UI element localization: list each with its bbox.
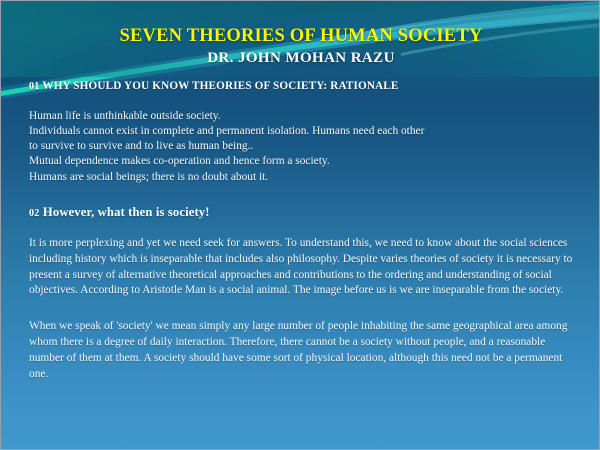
section-01-line-2: Individuals cannot exist in complete and… [29,124,575,139]
section-02-heading-text: However, what then is society! [43,205,210,219]
presentation-slide: SEVEN THEORIES OF HUMAN SOCIETY DR. JOHN… [0,0,600,450]
section-01-heading: 01 WHY SHOULD YOU KNOW THEORIES OF SOCIE… [29,79,575,94]
section-01-number: 01 [29,81,40,92]
section-01-line-5: Humans are social beings; there is no do… [29,170,575,185]
slide-subtitle: DR. JOHN MOHAN RAZU [1,47,600,67]
section-02-heading: 02 However, what then is society! [29,204,575,221]
section-01-heading-text: WHY SHOULD YOU KNOW THEORIES OF SOCIETY:… [42,80,398,92]
slide-title: SEVEN THEORIES OF HUMAN SOCIETY [1,1,600,47]
section-02-paragraph-1: It is more perplexing and yet we need se… [29,236,575,300]
section-01-line-3: to survive to survive and to live as hum… [29,139,575,154]
section-02-number: 02 [29,208,40,219]
section-01-lines: Human life is unthinkable outside societ… [29,109,575,185]
title-block: SEVEN THEORIES OF HUMAN SOCIETY DR. JOHN… [1,1,600,67]
slide-body: 01 WHY SHOULD YOU KNOW THEORIES OF SOCIE… [29,79,575,383]
section-01-line-4: Mutual dependence makes co-operation and… [29,154,575,169]
section-02-paragraph-2: When we speak of 'society' we mean simpl… [29,319,575,383]
section-01-line-1: Human life is unthinkable outside societ… [29,109,575,124]
